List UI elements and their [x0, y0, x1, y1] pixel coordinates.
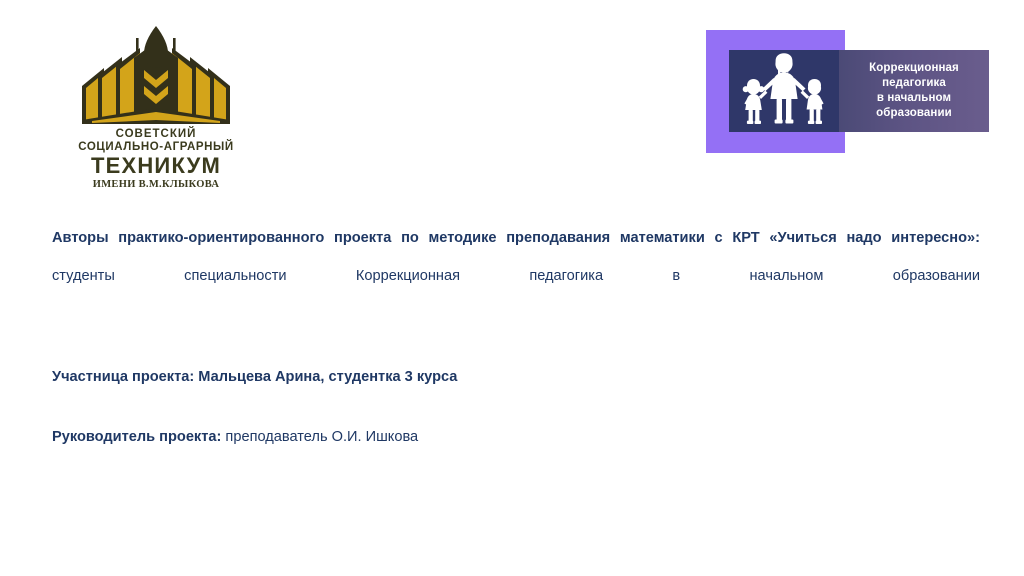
logo-line-social-agrarian: СОЦИАЛЬНО-АГРАРНЫЙ: [52, 141, 260, 153]
specialty-banner: Коррекционная педагогика в начальном обр…: [706, 30, 989, 153]
paragraph-authors: Авторы практико-ориентированного проекта…: [52, 219, 980, 334]
slide-canvas: СОВЕТСКИЙ СОЦИАЛЬНО-АГРАРНЫЙ ТЕХНИКУМ ИМ…: [0, 0, 1024, 576]
teacher-with-two-children-icon: [729, 50, 839, 132]
banner-caption-line-3: в начальном: [877, 91, 951, 106]
authors-bold-text: Авторы практико-ориентированного проекта…: [52, 230, 980, 246]
paragraph-participant: Участница проекта: Мальцева Арина, студе…: [52, 358, 980, 396]
logo-line-sovetsky: СОВЕТСКИЙ: [52, 128, 260, 140]
banner-caption-line-4: образовании: [876, 106, 952, 121]
participant-bold-text: Участница проекта: Мальцева Арина, студе…: [52, 369, 457, 385]
open-book-wheat-emblem-icon: [78, 24, 234, 130]
banner-caption-line-1: Коррекционная: [869, 61, 959, 76]
college-logo-text: СОВЕТСКИЙ СОЦИАЛЬНО-АГРАРНЫЙ ТЕХНИКУМ ИМ…: [52, 128, 260, 190]
banner-caption-panel: Коррекционная педагогика в начальном обр…: [839, 50, 989, 132]
slide-body-text: Авторы практико-ориентированного проекта…: [52, 219, 980, 456]
logo-line-technikum: ТЕХНИКУМ: [52, 154, 260, 177]
supervisor-bold-text: Руководитель проекта:: [52, 429, 221, 445]
supervisor-regular-text: преподаватель О.И. Ишкова: [221, 429, 418, 445]
banner-caption-line-2: педагогика: [882, 76, 946, 91]
authors-regular-text: студенты специальности Коррекционная пед…: [52, 268, 980, 284]
logo-line-named-after: ИМЕНИ В.М.КЛЫКОВА: [52, 179, 260, 190]
paragraph-supervisor: Руководитель проекта: преподаватель О.И.…: [52, 418, 980, 456]
college-logo: СОВЕТСКИЙ СОЦИАЛЬНО-АГРАРНЫЙ ТЕХНИКУМ ИМ…: [52, 24, 260, 186]
